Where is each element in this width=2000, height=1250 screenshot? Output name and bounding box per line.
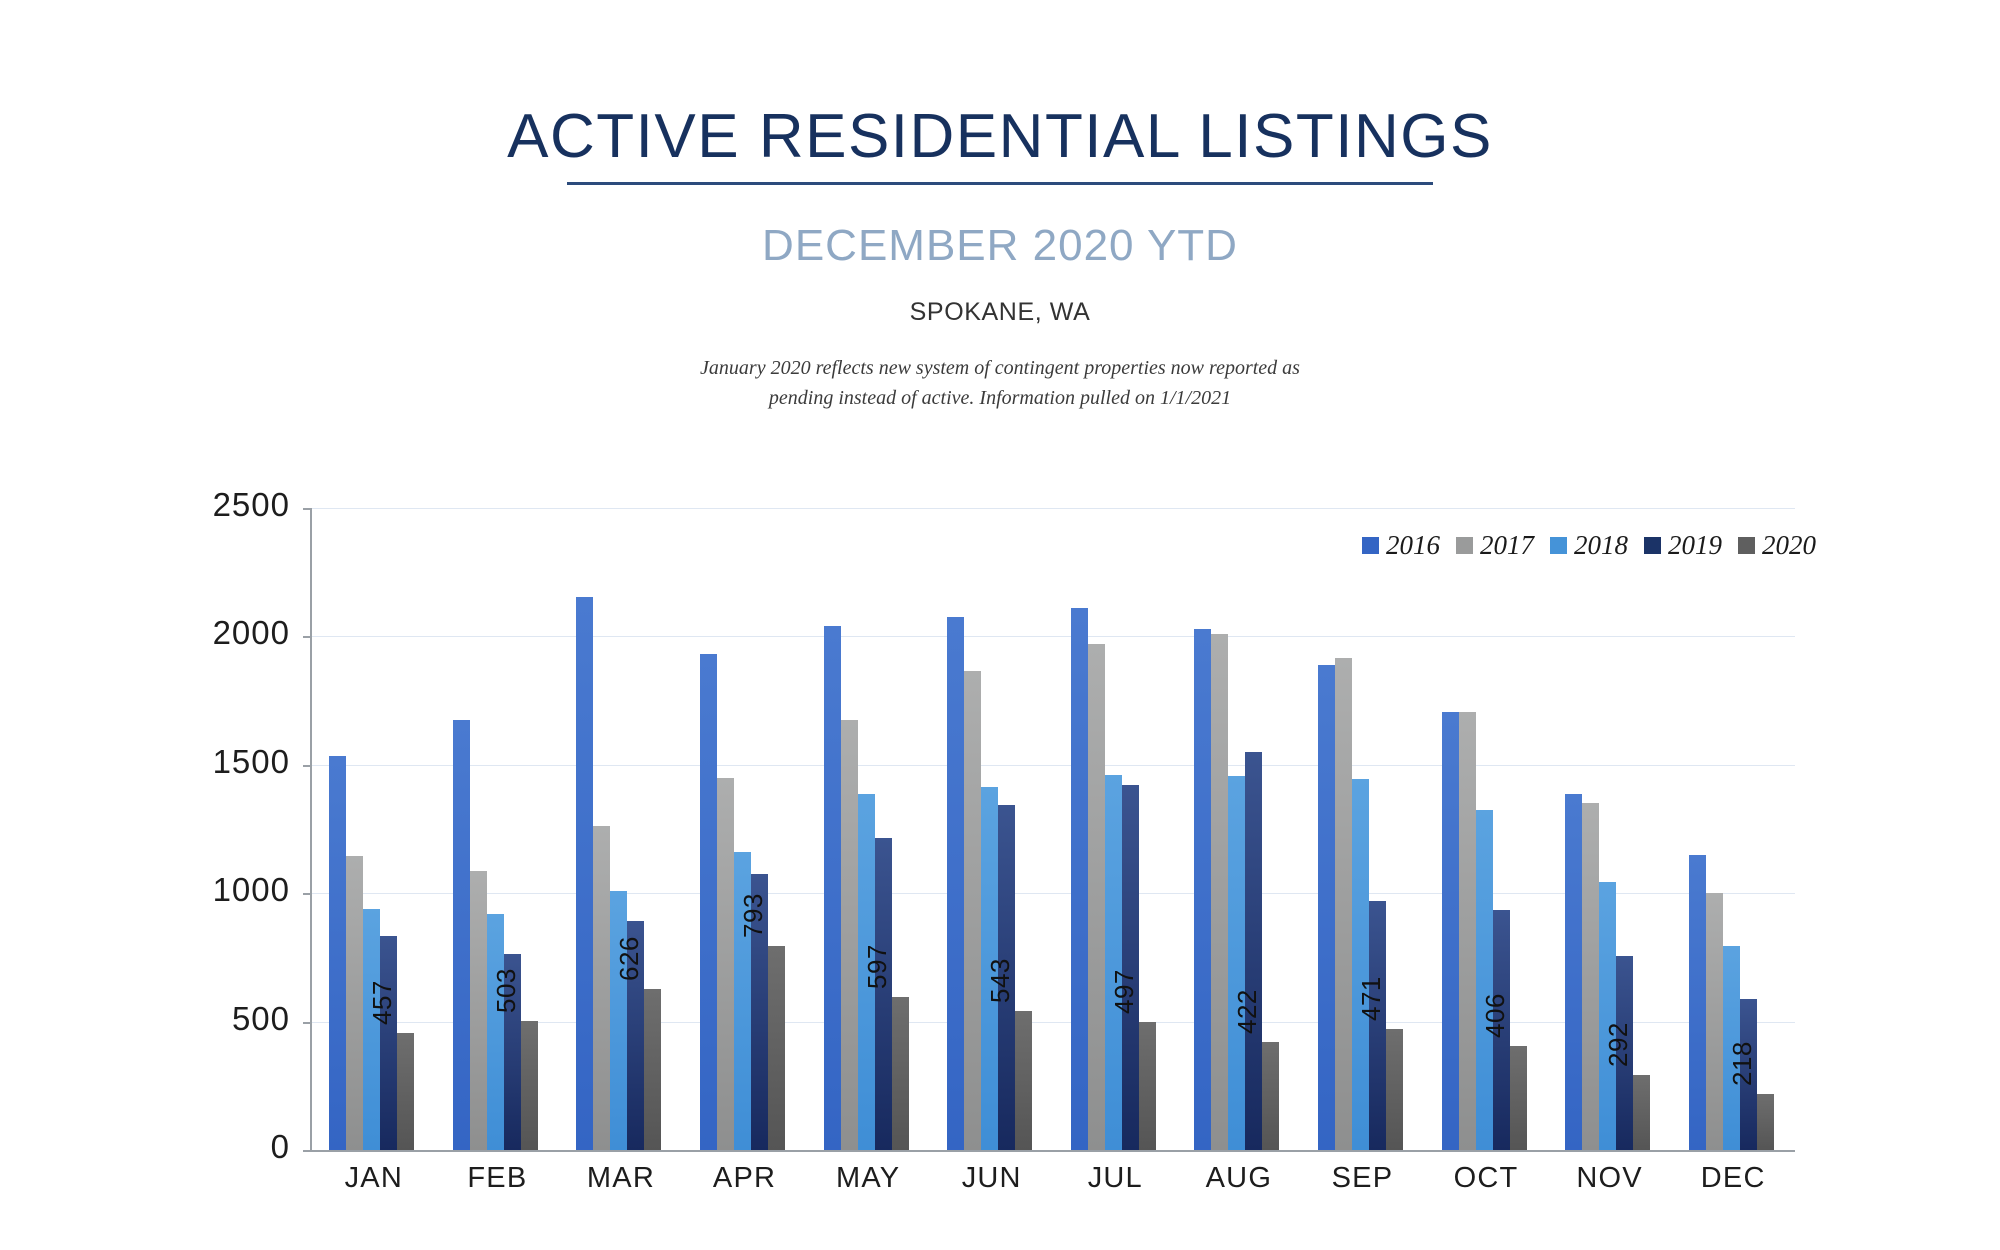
bar-2016-NOV[interactable]	[1565, 794, 1582, 1150]
y-axis-tick-mark	[303, 1022, 312, 1024]
x-axis-label-JUN: JUN	[932, 1162, 1052, 1195]
bar-data-label: 422	[1232, 989, 1263, 1034]
bar-group: 597	[806, 508, 930, 1150]
bar-2016-JUL[interactable]	[1071, 608, 1088, 1150]
bar-2019-FEB[interactable]	[504, 954, 521, 1150]
bar-group: 793	[683, 508, 807, 1150]
y-axis-tick-mark	[303, 508, 312, 510]
bar-group: 292	[1548, 508, 1672, 1150]
bar-2019-SEP[interactable]	[1369, 901, 1386, 1150]
x-axis-line	[310, 1150, 1795, 1152]
page-title: ACTIVE RESIDENTIAL LISTINGS	[507, 106, 1493, 168]
bar-2017-OCT[interactable]	[1459, 712, 1476, 1150]
legend-item-2018[interactable]: 2018	[1550, 530, 1628, 561]
x-axis-label-NOV: NOV	[1550, 1162, 1670, 1195]
y-axis-tick-mark	[303, 636, 312, 638]
bar-2019-MAY[interactable]	[875, 838, 892, 1150]
location-label: SPOKANE, WA	[0, 298, 2000, 327]
bar-2019-AUG[interactable]	[1245, 752, 1262, 1150]
bar-2020-MAR[interactable]	[644, 989, 661, 1150]
gridline	[312, 1022, 1795, 1023]
bar-2016-MAR[interactable]	[576, 597, 593, 1150]
gridline	[312, 636, 1795, 637]
chart-legend: 20162017201820192020	[1362, 530, 1816, 561]
bar-2016-JAN[interactable]	[329, 756, 346, 1150]
bar-data-label: 543	[985, 958, 1016, 1003]
bar-group: 497	[1054, 508, 1178, 1150]
bar-2017-DEC[interactable]	[1706, 893, 1723, 1150]
bar-2016-SEP[interactable]	[1318, 665, 1335, 1150]
page-header: ACTIVE RESIDENTIAL LISTINGS DECEMBER 202…	[0, 0, 2000, 413]
bar-group: 218	[1671, 508, 1795, 1150]
bar-data-label: 457	[367, 980, 398, 1025]
bar-2018-SEP[interactable]	[1352, 779, 1369, 1150]
bar-2020-JUL[interactable]	[1139, 1022, 1156, 1150]
bar-2016-FEB[interactable]	[453, 720, 470, 1150]
bar-2016-APR[interactable]	[700, 654, 717, 1150]
bar-2020-JUN[interactable]	[1015, 1011, 1032, 1150]
bar-2018-JUL[interactable]	[1105, 775, 1122, 1150]
bar-2020-MAY[interactable]	[892, 997, 909, 1150]
bar-2020-NOV[interactable]	[1633, 1075, 1650, 1150]
x-axis-label-APR: APR	[685, 1162, 805, 1195]
legend-swatch-icon	[1738, 537, 1755, 554]
gridline	[312, 508, 1795, 509]
bar-2020-SEP[interactable]	[1386, 1029, 1403, 1150]
bar-2016-JUN[interactable]	[947, 617, 964, 1150]
bar-2019-APR[interactable]	[751, 874, 768, 1150]
x-axis-label-AUG: AUG	[1179, 1162, 1299, 1195]
bar-2019-DEC[interactable]	[1740, 999, 1757, 1151]
legend-item-2016[interactable]: 2016	[1362, 530, 1440, 561]
bar-2020-FEB[interactable]	[521, 1021, 538, 1150]
legend-swatch-icon	[1362, 537, 1379, 554]
footnote: January 2020 reflects new system of cont…	[0, 353, 2000, 413]
bar-2018-MAR[interactable]	[610, 891, 627, 1150]
bar-data-label: 597	[862, 944, 893, 989]
x-axis-label-MAY: MAY	[808, 1162, 928, 1195]
bar-group: 406	[1424, 508, 1548, 1150]
y-axis-tick-label: 1500	[180, 743, 290, 781]
bar-2018-NOV[interactable]	[1599, 882, 1616, 1150]
y-axis-tick-label: 2000	[180, 614, 290, 652]
bar-2020-JAN[interactable]	[397, 1033, 414, 1150]
x-axis-label-SEP: SEP	[1302, 1162, 1422, 1195]
x-axis-label-JAN: JAN	[314, 1162, 434, 1195]
legend-swatch-icon	[1644, 537, 1661, 554]
bar-2020-APR[interactable]	[768, 946, 785, 1150]
bar-2016-OCT[interactable]	[1442, 712, 1459, 1150]
bar-group: 626	[559, 508, 683, 1150]
bar-2020-AUG[interactable]	[1262, 1042, 1279, 1150]
x-axis-label-JUL: JUL	[1055, 1162, 1175, 1195]
bar-group: 503	[436, 508, 560, 1150]
bar-2020-DEC[interactable]	[1757, 1094, 1774, 1150]
bar-2017-JUN[interactable]	[964, 671, 981, 1150]
bars-layer: 457503626793597543497422471406292218	[312, 508, 1795, 1150]
bar-2019-OCT[interactable]	[1493, 910, 1510, 1150]
bar-2016-AUG[interactable]	[1194, 629, 1211, 1150]
bar-2019-JUL[interactable]	[1122, 785, 1139, 1150]
y-axis-tick-mark	[303, 1150, 312, 1152]
legend-label: 2016	[1386, 530, 1440, 561]
gridline	[312, 765, 1795, 766]
bar-data-label: 503	[491, 968, 522, 1013]
legend-label: 2017	[1480, 530, 1534, 561]
y-axis-tick-label: 2500	[180, 486, 290, 524]
title-underline	[567, 182, 1433, 185]
y-axis-tick-label: 500	[180, 1000, 290, 1038]
bar-group: 422	[1177, 508, 1301, 1150]
bar-2018-DEC[interactable]	[1723, 946, 1740, 1150]
bar-data-label: 292	[1603, 1022, 1634, 1067]
bar-data-label: 497	[1109, 969, 1140, 1014]
footnote-line-1: January 2020 reflects new system of cont…	[0, 353, 2000, 383]
bar-2018-APR[interactable]	[734, 852, 751, 1150]
legend-item-2017[interactable]: 2017	[1456, 530, 1534, 561]
x-axis-label-DEC: DEC	[1673, 1162, 1793, 1195]
bar-2020-OCT[interactable]	[1510, 1046, 1527, 1150]
legend-item-2020[interactable]: 2020	[1738, 530, 1816, 561]
bar-2017-MAY[interactable]	[841, 720, 858, 1150]
gridline	[312, 893, 1795, 894]
legend-item-2019[interactable]: 2019	[1644, 530, 1722, 561]
bar-2018-JUN[interactable]	[981, 787, 998, 1150]
bar-2019-MAR[interactable]	[627, 921, 644, 1150]
title-block: ACTIVE RESIDENTIAL LISTINGS	[507, 106, 1493, 168]
x-axis-label-OCT: OCT	[1426, 1162, 1546, 1195]
y-axis-tick-mark	[303, 893, 312, 895]
x-axis-label-FEB: FEB	[437, 1162, 557, 1195]
bar-group: 471	[1301, 508, 1425, 1150]
bar-data-label: 626	[614, 936, 645, 981]
bar-2018-MAY[interactable]	[858, 794, 875, 1150]
legend-swatch-icon	[1550, 537, 1567, 554]
footnote-line-2: pending instead of active. Information p…	[0, 383, 2000, 413]
bar-2017-AUG[interactable]	[1211, 634, 1228, 1150]
y-axis-tick-label: 1000	[180, 871, 290, 909]
bar-2019-JUN[interactable]	[998, 805, 1015, 1150]
bar-data-label: 218	[1727, 1041, 1758, 1086]
plot-area	[310, 508, 1795, 1150]
bar-2019-JAN[interactable]	[380, 936, 397, 1150]
bar-group: 543	[930, 508, 1054, 1150]
bar-2019-NOV[interactable]	[1616, 956, 1633, 1150]
bar-2018-OCT[interactable]	[1476, 810, 1493, 1150]
legend-label: 2019	[1668, 530, 1722, 561]
y-axis-tick-mark	[303, 765, 312, 767]
y-axis-tick-label: 0	[180, 1128, 290, 1166]
page-subtitle: DECEMBER 2020 YTD	[0, 224, 2000, 268]
legend-swatch-icon	[1456, 537, 1473, 554]
bar-2018-AUG[interactable]	[1228, 776, 1245, 1150]
bar-2017-NOV[interactable]	[1582, 803, 1599, 1150]
bar-2017-APR[interactable]	[717, 778, 734, 1150]
legend-label: 2018	[1574, 530, 1628, 561]
bar-2017-FEB[interactable]	[470, 871, 487, 1150]
bar-2016-MAY[interactable]	[824, 626, 841, 1150]
bar-2017-SEP[interactable]	[1335, 658, 1352, 1150]
bar-2017-JAN[interactable]	[346, 856, 363, 1150]
bar-2018-JAN[interactable]	[363, 909, 380, 1150]
bar-2016-DEC[interactable]	[1689, 855, 1706, 1150]
bar-group: 457	[312, 508, 436, 1150]
bar-2018-FEB[interactable]	[487, 914, 504, 1150]
x-axis-label-MAR: MAR	[561, 1162, 681, 1195]
bar-data-label: 793	[738, 893, 769, 938]
bar-2017-MAR[interactable]	[593, 826, 610, 1150]
legend-label: 2020	[1762, 530, 1816, 561]
bar-data-label: 406	[1480, 993, 1511, 1038]
bar-data-label: 471	[1356, 976, 1387, 1021]
bar-2017-JUL[interactable]	[1088, 644, 1105, 1150]
